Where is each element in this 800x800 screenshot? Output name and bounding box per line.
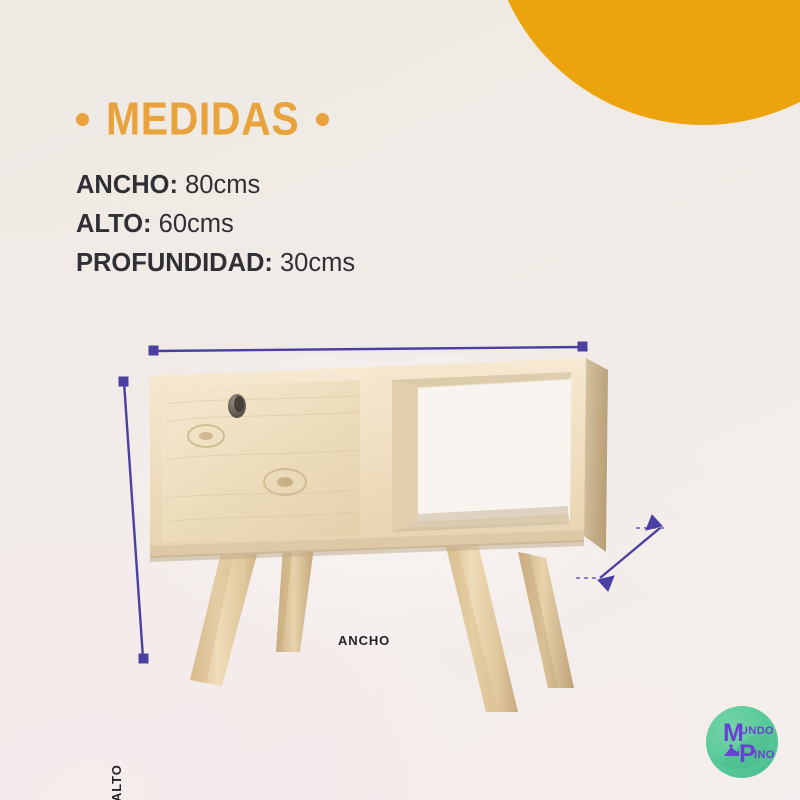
nightstand-illustration (0, 300, 800, 720)
spec-label-profundidad: PROFUNDIDAD: (76, 249, 273, 277)
logo-word-ino: INO (754, 749, 775, 761)
spec-value-alto: 60cms (159, 210, 234, 238)
heading: MEDIDAS (76, 99, 329, 140)
alto-dimension-line (124, 382, 143, 658)
list-item: ANCHO: 80cms (76, 166, 355, 205)
list-item: ALTO: 60cms (76, 205, 355, 244)
measurements-list: ANCHO: 80cms ALTO: 60cms PROFUNDIDAD: 30… (76, 166, 355, 283)
orange-corner-circle (488, 0, 800, 125)
carcass (150, 358, 608, 562)
list-item: PROFUNDIDAD: 30cms (76, 244, 355, 283)
alto-dimension-label: ALTO (109, 764, 124, 800)
logo-artwork: M UNDO P INO (706, 706, 778, 778)
spec-label-alto: ALTO: (76, 210, 152, 238)
ancho-endcap-left (149, 346, 158, 355)
ancho-dimension-line (154, 347, 582, 351)
poster-canvas: MEDIDAS ANCHO: 80cms ALTO: 60cms PROFUND… (0, 0, 800, 800)
product-photo: ANCHO ALTO PROFUNDIDAD (0, 300, 800, 720)
bullet-dot-right-icon (316, 113, 329, 126)
bullet-dot-left-icon (76, 113, 89, 126)
page-title: MEDIDAS (106, 97, 299, 143)
spec-label-ancho: ANCHO: (76, 171, 178, 199)
spec-value-profundidad: 30cms (280, 249, 355, 277)
profundidad-dimension-line (600, 528, 660, 578)
logo-word-undo: UNDO (740, 725, 774, 737)
brand-logo: M UNDO P INO (706, 706, 778, 778)
ancho-endcap-right (578, 342, 587, 351)
ancho-dimension-label: ANCHO (338, 633, 390, 648)
spec-value-ancho: 80cms (185, 171, 260, 199)
alto-endcap-bottom (139, 654, 148, 663)
alto-endcap-top (119, 377, 128, 386)
